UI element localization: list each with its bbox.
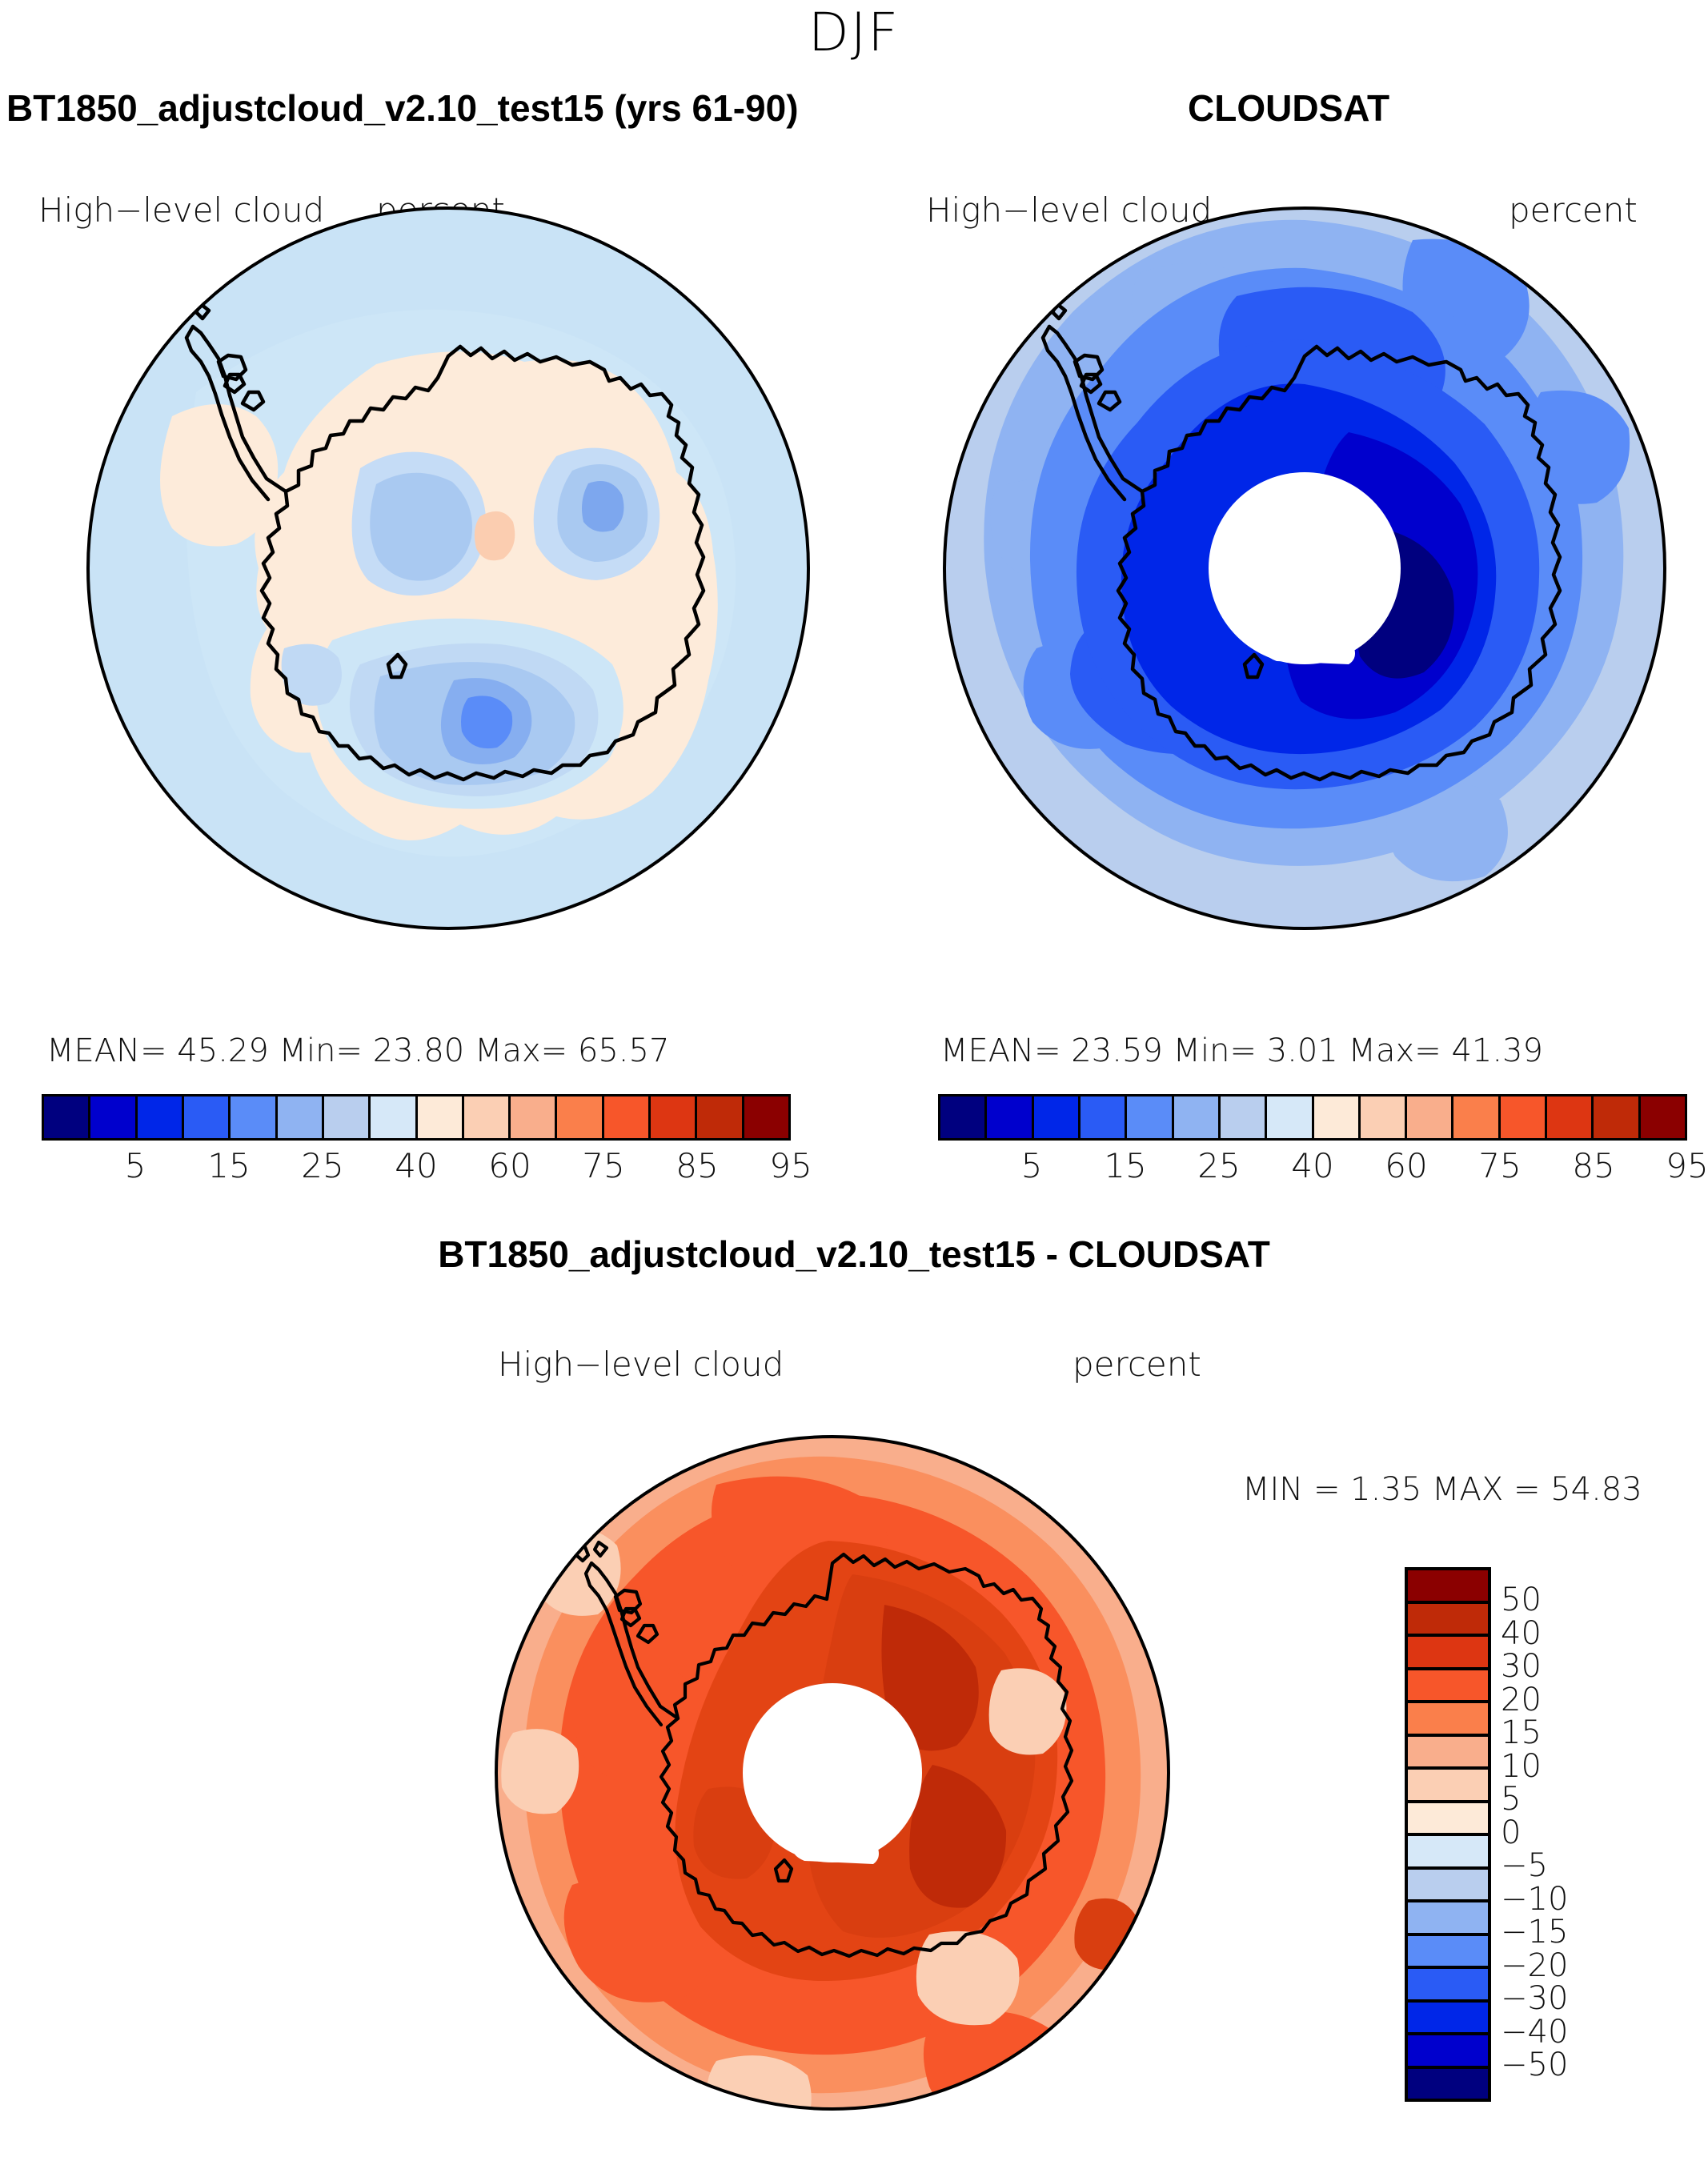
diff-units-label: percent	[1073, 1345, 1201, 1384]
diff-variable-label: High−level cloud	[498, 1345, 784, 1384]
obs-colorbar-ticks: 5 15 25 40 60 75 85 95	[938, 1146, 1687, 1194]
difference-colorbar-ticks: 50 40 30 20 15 10 5 0 −5 −10 −15 −20 −30…	[1501, 1567, 1693, 2103]
diff-tick-5: 10	[1501, 1748, 1542, 1785]
model-tick-7: 95	[769, 1146, 812, 1185]
obs-tick-5: 75	[1478, 1146, 1521, 1185]
obs-tick-0: 5	[1021, 1146, 1043, 1185]
diff-panel-title: BT1850_adjustcloud_v2.10_test15 - CLOUDS…	[0, 1233, 1708, 1276]
diff-tick-0: 50	[1501, 1582, 1542, 1618]
obs-colorbar[interactable]	[938, 1094, 1687, 1141]
cloudsat-map[interactable]	[900, 152, 1708, 984]
diff-tick-9: −10	[1501, 1881, 1568, 1918]
diff-stats: MIN = 1.35 MAX = 54.83	[1242, 1471, 1642, 1508]
season-title: DJF	[0, 2, 1708, 63]
diff-tick-2: 30	[1501, 1648, 1542, 1685]
obs-tick-3: 40	[1291, 1146, 1333, 1185]
obs-tick-2: 25	[1197, 1146, 1240, 1185]
obs-tick-7: 95	[1666, 1146, 1708, 1185]
obs-tick-6: 85	[1572, 1146, 1614, 1185]
diff-tick-12: −30	[1501, 1980, 1568, 2017]
cloudsat-polar-data-hole	[1209, 472, 1401, 664]
diff-tick-6: 5	[1501, 1781, 1521, 1818]
diff-tick-4: 15	[1501, 1714, 1542, 1751]
model-tick-6: 85	[676, 1146, 718, 1185]
diff-tick-7: 0	[1501, 1814, 1521, 1851]
model-tick-4: 60	[488, 1146, 531, 1185]
model-tick-3: 40	[395, 1146, 437, 1185]
diff-tick-8: −5	[1501, 1847, 1548, 1884]
diff-tick-11: −20	[1501, 1947, 1568, 1984]
model-colorbar-ticks: 5 15 25 40 60 75 85 95	[42, 1146, 791, 1194]
model-filled-contours	[44, 152, 852, 984]
obs-panel-title: CLOUDSAT	[1188, 86, 1389, 130]
difference-colorbar[interactable]	[1405, 1567, 1491, 2102]
model-tick-2: 25	[301, 1146, 343, 1185]
model-tick-5: 75	[582, 1146, 624, 1185]
diff-tick-14: −50	[1501, 2047, 1568, 2083]
obs-tick-1: 15	[1104, 1146, 1146, 1185]
model-panel-title: BT1850_adjustcloud_v2.10_test15 (yrs 61-…	[6, 86, 799, 130]
model-stats: MEAN= 45.29 Min= 23.80 Max= 65.57	[46, 1032, 669, 1069]
diff-tick-10: −15	[1501, 1914, 1568, 1951]
model-tick-0: 5	[125, 1146, 146, 1185]
difference-map[interactable]	[452, 1389, 1213, 2157]
obs-stats: MEAN= 23.59 Min= 3.01 Max= 41.39	[940, 1032, 1543, 1069]
model-colorbar[interactable]	[42, 1094, 791, 1141]
diff-tick-1: 40	[1501, 1615, 1542, 1652]
model-tick-1: 15	[207, 1146, 250, 1185]
diff-tick-13: −40	[1501, 2014, 1568, 2051]
model-map[interactable]	[44, 152, 852, 984]
diff-tick-3: 20	[1501, 1682, 1542, 1718]
obs-tick-4: 60	[1385, 1146, 1427, 1185]
